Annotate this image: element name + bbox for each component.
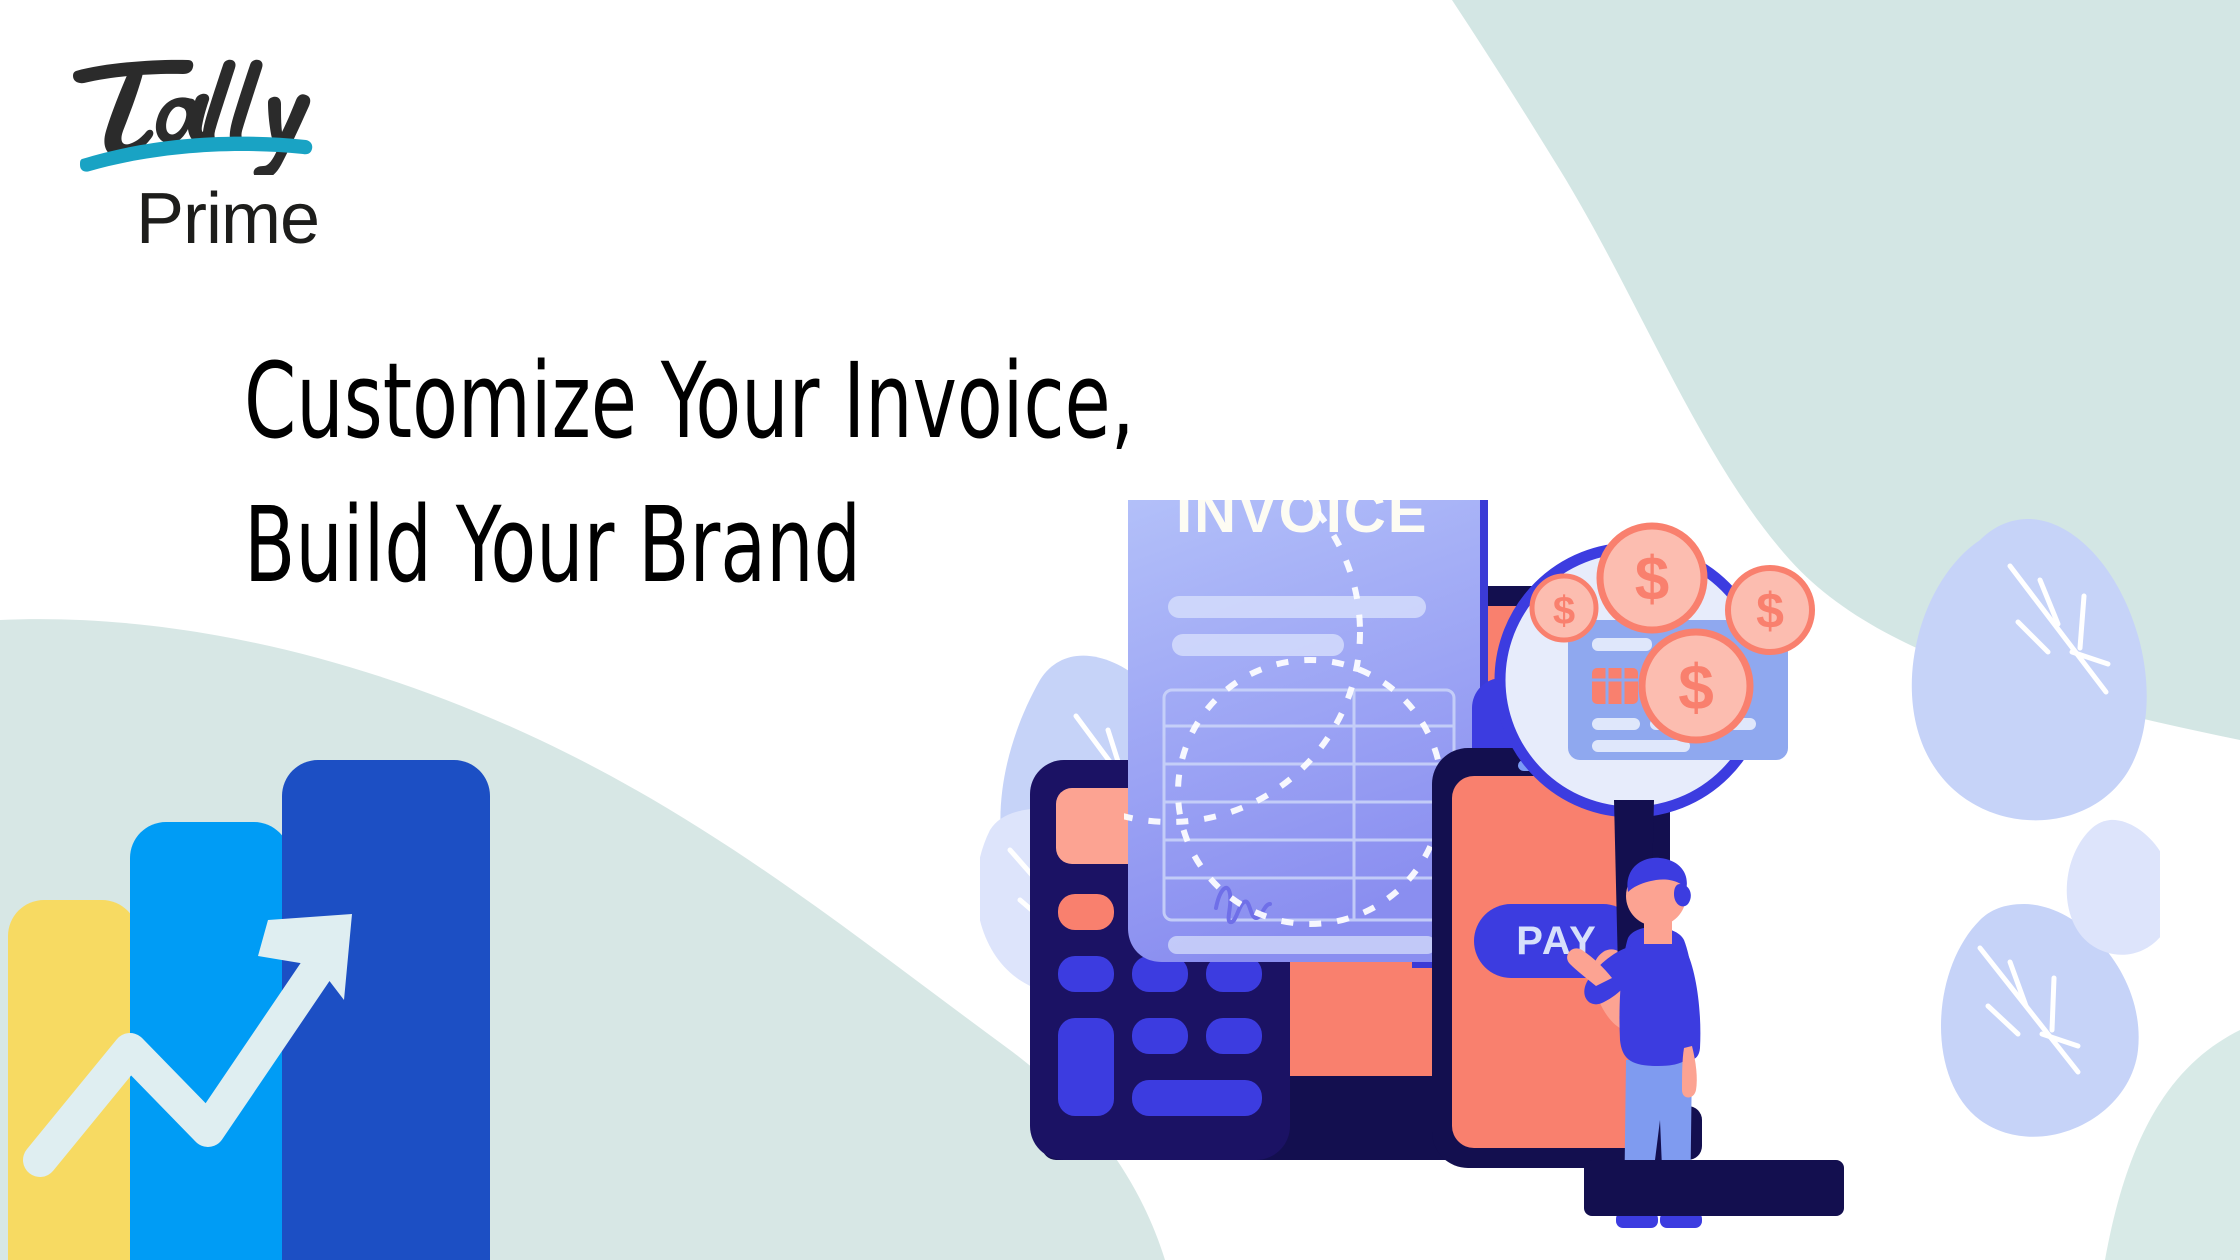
- tally-wordmark-icon: [70, 55, 320, 175]
- svg-text:$: $: [1553, 589, 1575, 633]
- invoice-line-2: [1172, 634, 1344, 656]
- headline-line-1: Customize Your Invoice,: [244, 330, 1188, 474]
- svg-text:$: $: [1635, 545, 1669, 614]
- svg-text:$: $: [1756, 583, 1784, 639]
- leaf-blob-far-right: [2067, 820, 2160, 955]
- invoice-footer-line: [1168, 936, 1436, 954]
- invoice-payment-illustration: INVOICE: [980, 500, 2160, 1260]
- invoice-title: INVOICE: [1176, 500, 1429, 545]
- logo-product-name: Prime: [136, 183, 319, 255]
- svg-text:$: $: [1678, 651, 1714, 723]
- growth-chart-graphic: [0, 760, 500, 1260]
- invoice-line-1: [1168, 596, 1426, 618]
- bar-dark-blue: [282, 760, 490, 1260]
- tallyprime-logo[interactable]: Prime: [70, 55, 330, 270]
- coin-small-left: $: [1532, 576, 1596, 640]
- leaf-blob-right: [1912, 519, 2147, 820]
- coin-large-bottom: $: [1642, 632, 1750, 740]
- banner-canvas: Prime Customize Your Invoice, Build Your…: [0, 0, 2240, 1260]
- coin-large-top: $: [1600, 526, 1704, 630]
- base-shadow: [1584, 1160, 1844, 1216]
- coin-medium-right: $: [1728, 568, 1812, 652]
